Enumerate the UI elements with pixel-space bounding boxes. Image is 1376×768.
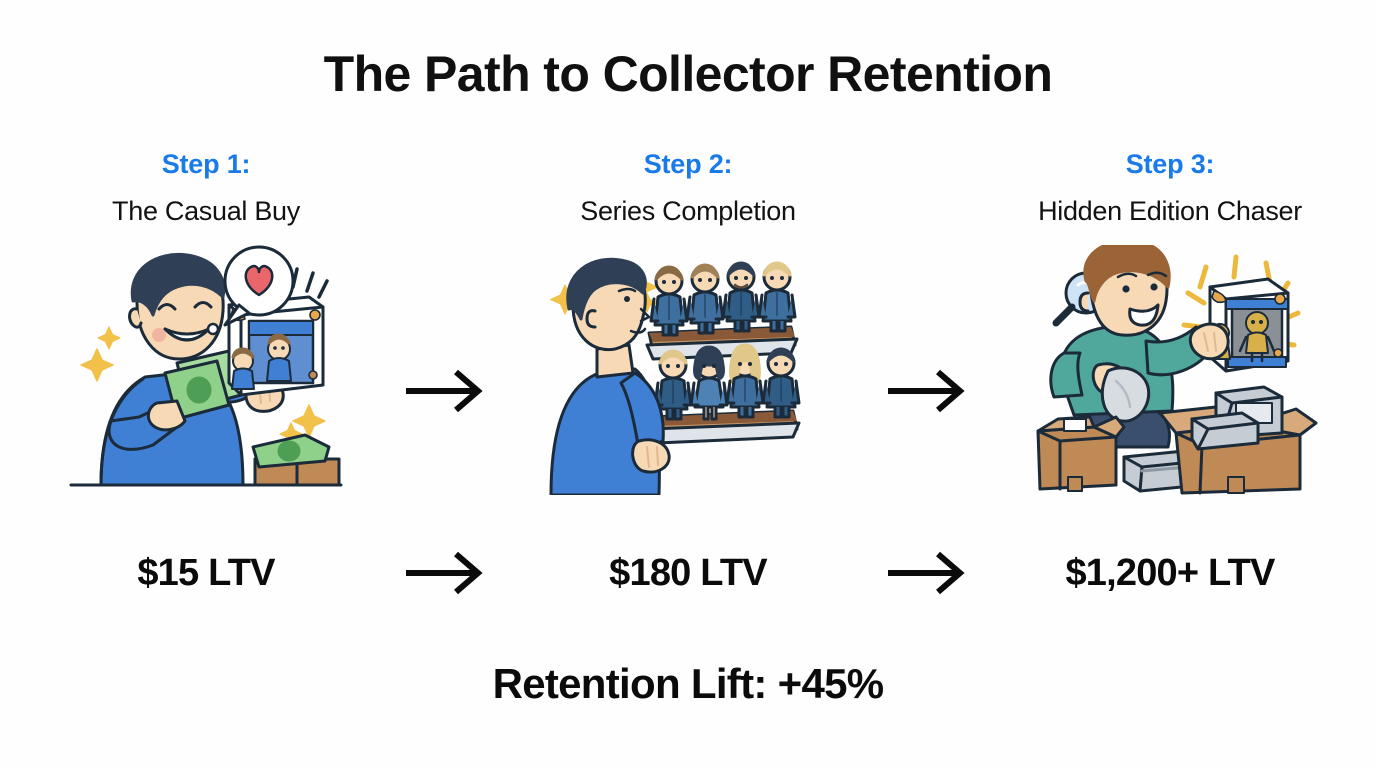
step-2-illustration	[538, 245, 838, 495]
step-3-illustration	[1020, 245, 1320, 495]
step-3-label: Step 3:	[1126, 150, 1215, 180]
collector-buying-figure-with-cash-icon	[61, 245, 351, 495]
step-arrow-2	[861, 150, 997, 414]
collector-viewing-shelf-of-figures-icon	[543, 245, 833, 495]
page-title: The Path to Collector Retention	[0, 46, 1376, 102]
step-1-label: Step 1:	[162, 150, 251, 180]
ltv-value-1: $15 LTV	[33, 552, 379, 595]
step-1-title: The Casual Buy	[112, 196, 300, 227]
arrow-right-icon	[886, 550, 972, 596]
steps-row: Step 1: The Casual Buy	[0, 150, 1376, 530]
step-1-illustration	[56, 245, 356, 495]
collector-finding-hidden-edition-icon	[1020, 245, 1320, 495]
step-arrow-1	[379, 150, 515, 414]
step-column-3: Step 3: Hidden Edition Chaser	[997, 150, 1343, 495]
step-column-2: Step 2: Series Completion	[515, 150, 861, 495]
arrow-right-icon	[404, 368, 490, 414]
step-2-title: Series Completion	[580, 196, 796, 227]
step-2-label: Step 2:	[644, 150, 733, 180]
retention-lift-footer: Retention Lift: +45%	[0, 660, 1376, 708]
infographic-canvas: The Path to Collector Retention Step 1: …	[0, 0, 1376, 768]
step-column-1: Step 1: The Casual Buy	[33, 150, 379, 495]
ltv-value-3: $1,200+ LTV	[997, 552, 1343, 595]
step-3-title: Hidden Edition Chaser	[1038, 196, 1302, 227]
ltv-row: $15 LTV $180 LTV $1,200+ LTV	[0, 530, 1376, 616]
arrow-right-icon	[886, 368, 972, 414]
ltv-arrow-1	[379, 550, 515, 596]
arrow-right-icon	[404, 550, 490, 596]
ltv-arrow-2	[861, 550, 997, 596]
ltv-value-2: $180 LTV	[515, 552, 861, 595]
